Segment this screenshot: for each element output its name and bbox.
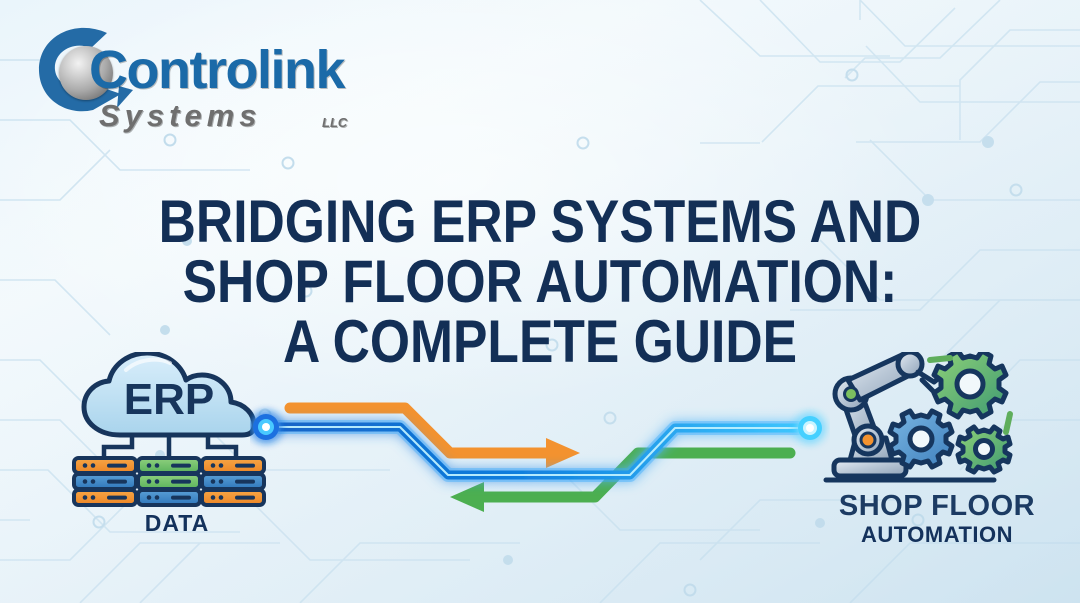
server-stack-icon [74, 458, 264, 505]
cloud-server-connectors [104, 435, 236, 458]
robot-joint-orange [861, 433, 875, 447]
gear-large-green-icon [934, 352, 1006, 417]
automation-node: SHOP FLOOR AUTOMATION [812, 352, 1062, 552]
automation-label-primary: SHOP FLOOR [812, 490, 1062, 523]
page-title: BRIDGING ERP SYSTEMS AND SHOP FLOOR AUTO… [76, 192, 1005, 372]
robot-and-gears-icon [812, 352, 1062, 492]
slide-canvas: Controlink Systems LLC BRIDGING ERP SYST… [0, 0, 1080, 603]
logo-subtitle: Systems [99, 98, 262, 134]
company-logo[interactable]: Controlink Systems LLC [33, 24, 353, 132]
automation-label-secondary: AUTOMATION [812, 522, 1062, 548]
erp-cloud-label: ERP [124, 375, 214, 424]
data-pipeline [250, 385, 830, 525]
title-line-2: SHOP FLOOR AUTOMATION: [76, 252, 1005, 312]
robot-joint-green [845, 388, 858, 401]
gear-small-green-icon [958, 427, 1010, 472]
glow-node-left [253, 414, 279, 440]
title-line-1: BRIDGING ERP SYSTEMS AND [76, 192, 1005, 252]
logo-suffix: LLC [322, 115, 347, 130]
flow-inbound-green [450, 453, 790, 512]
logo-wordmark: Controlink [89, 39, 344, 101]
